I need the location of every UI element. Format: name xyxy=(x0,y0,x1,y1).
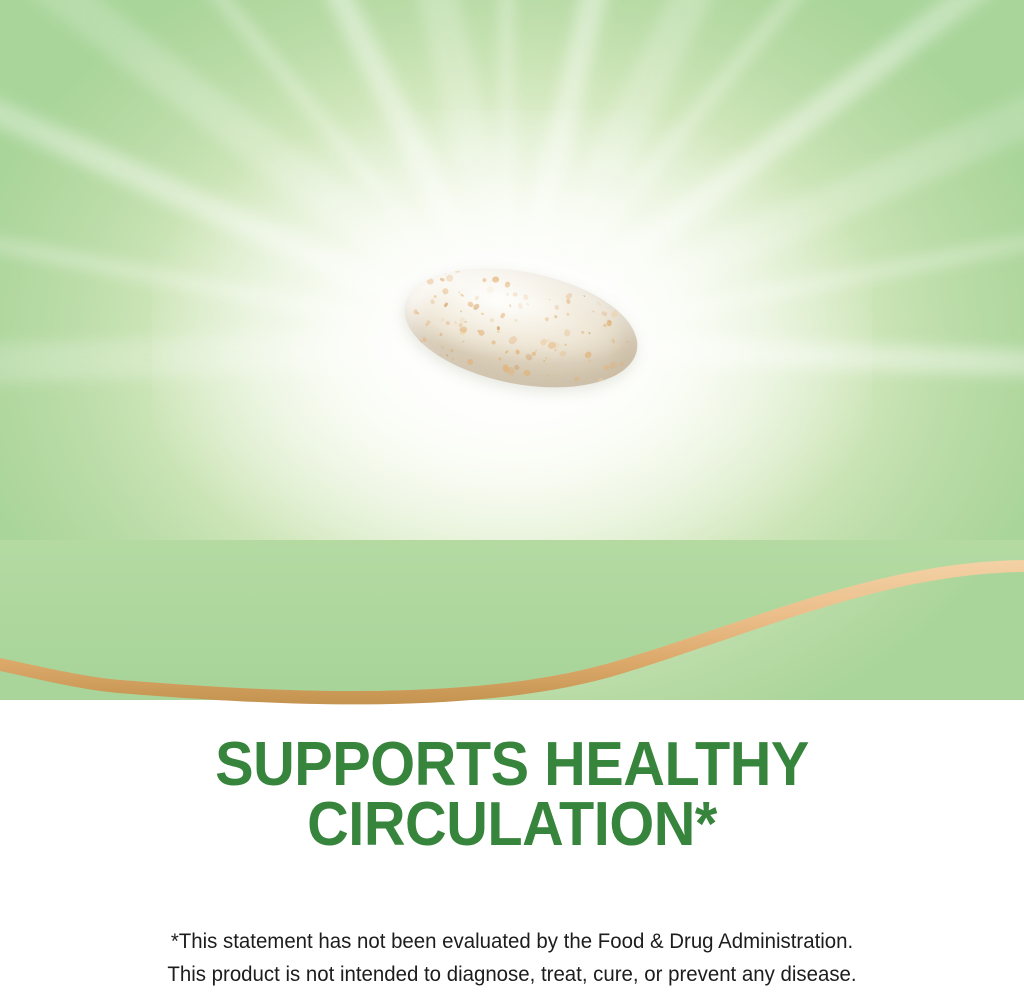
tablet-fleck xyxy=(490,318,494,322)
tablet-fleck xyxy=(505,350,509,354)
fda-disclaimer: *This statement has not been evaluated b… xyxy=(0,925,1024,991)
tablet-fleck xyxy=(462,340,465,343)
tablet-fleck xyxy=(429,299,435,305)
green-wave-fill xyxy=(0,540,1024,691)
tablet-fleck xyxy=(625,340,629,344)
tablet-fleck xyxy=(542,360,545,363)
tablet-fleck xyxy=(550,365,552,367)
tablet-fleck xyxy=(411,347,419,355)
tablet-fleck xyxy=(508,335,519,346)
tablet-fleck xyxy=(600,310,607,316)
tablet-fleck xyxy=(592,310,594,312)
tablet-fleck xyxy=(608,360,618,370)
tablet-fleck xyxy=(567,313,571,316)
tablet-fleck xyxy=(522,369,530,377)
tablet-fleck xyxy=(481,313,484,315)
disclaimer-line-1: *This statement has not been evaluated b… xyxy=(26,925,999,958)
tablet-fleck xyxy=(460,310,462,312)
tablet-fleck xyxy=(514,318,518,322)
tablet-fleck xyxy=(581,331,585,335)
tablet-fleck xyxy=(610,310,619,319)
tablet-fleck xyxy=(545,374,549,377)
tablet-fleck xyxy=(584,350,593,359)
disclaimer-line-2: This product is not intended to diagnose… xyxy=(26,958,999,991)
tablet-fleck xyxy=(497,331,501,334)
tablet-fleck xyxy=(535,349,538,352)
tablet-fleck xyxy=(596,301,602,308)
tablet-fleck xyxy=(466,357,474,365)
tablet-fleck xyxy=(426,279,434,285)
tablet-fleck xyxy=(547,364,549,366)
tablet-fleck xyxy=(433,342,436,345)
tablet-fleck xyxy=(560,351,567,356)
headline-line-2: CIRCULATION* xyxy=(36,795,988,855)
headline-line-1: SUPPORTS HEALTHY xyxy=(36,735,988,795)
tablet-fleck xyxy=(583,295,585,297)
tablet-fleck xyxy=(598,378,606,386)
tablet-fleck xyxy=(587,332,590,335)
tablet-fleck xyxy=(454,270,459,273)
tablet-fleck xyxy=(554,349,556,352)
tablet-fleck xyxy=(573,375,579,381)
tablet-fleck xyxy=(461,327,468,334)
tablet-fleck xyxy=(477,329,486,338)
tablet-fleck xyxy=(441,346,444,349)
tablet-fleck xyxy=(451,349,455,353)
tablet-fleck xyxy=(441,355,443,356)
tablet-fleck xyxy=(490,340,496,346)
tablet-fleck xyxy=(417,339,423,347)
tablet-fleck xyxy=(425,324,427,327)
tablet-fleck xyxy=(616,345,619,348)
tablet-fleck xyxy=(442,302,448,308)
tablet-fleck xyxy=(464,321,467,323)
tablet-fleck xyxy=(613,342,615,344)
tablet-fleck xyxy=(417,312,420,315)
tablet-fleck xyxy=(445,354,448,357)
tablet-fleck xyxy=(564,344,567,347)
tablet-fleck xyxy=(431,263,439,271)
tablet-fleck xyxy=(452,357,455,361)
product-marketing-panel: SUPPORTS HEALTHY CIRCULATION* *This stat… xyxy=(0,0,1024,992)
tablet-fleck xyxy=(423,337,428,343)
gold-wave-divider xyxy=(0,540,1024,710)
tablet-fleck xyxy=(565,329,571,336)
tablet-fleck xyxy=(453,321,456,325)
tablet-fleck xyxy=(588,359,592,363)
tablet-fleck xyxy=(499,357,502,360)
page-title: SUPPORTS HEALTHY CIRCULATION* xyxy=(0,735,1024,855)
tablet-fleck xyxy=(515,349,520,355)
tablet-fleck xyxy=(566,299,571,305)
tablet-fleck xyxy=(440,277,445,281)
tablet-fleck xyxy=(438,333,442,337)
tablet-fleck xyxy=(546,357,548,359)
tablet-fleck xyxy=(445,320,450,325)
